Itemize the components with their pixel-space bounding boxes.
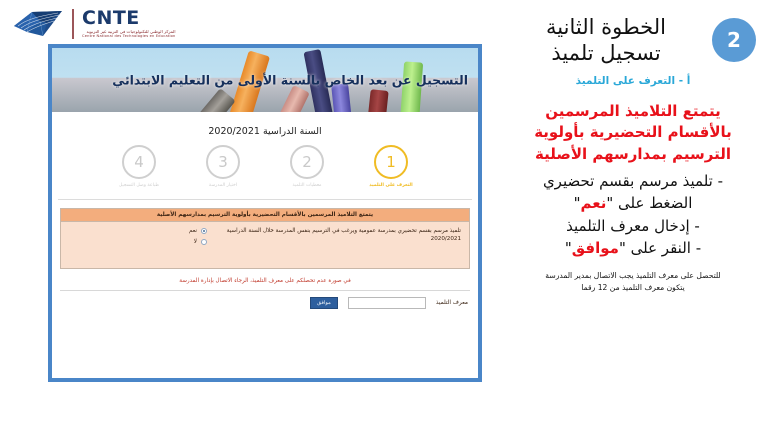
annotation-title-line2: تسجيل تلميذ: [510, 40, 702, 66]
instruction-3: - إدخال معرف التلميذ: [510, 215, 756, 238]
step-3-number: 3: [206, 145, 240, 179]
instruction-4-post: ": [565, 239, 572, 257]
instruction-2: الضغط على "نعم": [510, 192, 756, 215]
annotation-title-line1: الخطوة الثانية: [510, 14, 702, 40]
annotation-footnote: للتحصل على معرف التلميذ يجب الاتصال بمدي…: [510, 270, 756, 294]
registration-app-window: التسجيل عن بعد الخاص بالسنة الأولى من ال…: [48, 44, 482, 382]
banner-title: التسجيل عن بعد الخاص بالسنة الأولى من ال…: [112, 73, 468, 88]
logo-divider: [72, 9, 74, 39]
step-indicator: 1 التعرف على التلميذ 2 معطيات التلميذ 3 …: [52, 145, 478, 189]
instruction-3-pre: - إدخال معرف التلميذ: [566, 217, 700, 235]
radio-yes-dot[interactable]: [201, 228, 207, 234]
step-1[interactable]: 1 التعرف على التلميذ: [360, 145, 422, 189]
logo-wordmark: CNTE المركز الوطني للتكنولوجيات في الترب…: [82, 9, 176, 39]
step-2-label: معطيات التلميذ: [292, 183, 321, 189]
id-warning-text: في صورة عدم تحصلكم على معرف التلميذ، الر…: [62, 278, 468, 284]
annotation-title-group: الخطوة الثانية تسجيل تلميذ: [510, 14, 702, 67]
school-year-label: السنة الدراسية 2020/2021: [52, 126, 478, 137]
question-row: تلميذ مرسم بقسم تحضيري بمدرسة عمومية وير…: [69, 227, 461, 245]
submit-button[interactable]: موافق: [310, 297, 338, 309]
annotation-red-notice: يتمتع التلاميذ المرسمين بالأقسام التحضير…: [510, 101, 756, 166]
step-1-number: 1: [374, 145, 408, 179]
logo-subtitle-fr: Centre National des Technologies en Educ…: [82, 35, 176, 39]
instruction-1-pre: - تلميذ مرسم بقسم تحضيري: [543, 172, 723, 190]
crayon-violet: [331, 83, 354, 112]
instruction-4: - النقر على "موافق": [510, 237, 756, 260]
warning-divider: [60, 290, 470, 291]
step-3-label: اختيار المدرسة: [209, 183, 237, 189]
annotation-instructions: - تلميذ مرسم بقسم تحضيري الضغط على "نعم"…: [510, 170, 756, 260]
logo-name: CNTE: [82, 9, 176, 28]
annotation-pane: 2 الخطوة الثانية تسجيل تلميذ أ - التعرف …: [500, 0, 768, 432]
step-badge: 2: [712, 18, 756, 62]
question-text: تلميذ مرسم بقسم تحضيري بمدرسة عمومية وير…: [213, 227, 461, 244]
student-id-input[interactable]: [348, 297, 426, 309]
crayon-pink: [268, 85, 310, 112]
step-3[interactable]: 3 اختيار المدرسة: [192, 145, 254, 189]
student-id-label: معرف التلميذ: [436, 300, 468, 306]
crayon-maroon: [365, 89, 388, 112]
step-2[interactable]: 2 معطيات التلميذ: [276, 145, 338, 189]
footnote-line-2: يتكون معرف التلميذ من 12 رقما: [510, 282, 756, 294]
cnte-logo-lockup: CNTE المركز الوطني للتكنولوجيات في الترب…: [12, 6, 176, 42]
step-4-number: 4: [122, 145, 156, 179]
red-notice-line-2: بالأقسام التحضيرية بأولوية: [510, 122, 756, 144]
red-notice-line-3: الترسيم بمدارسهم الأصلية: [510, 144, 756, 166]
instruction-2-pre: الضغط على ": [606, 194, 692, 212]
step-1-label: التعرف على التلميذ: [369, 183, 412, 189]
instruction-4-highlight: موافق: [572, 239, 619, 257]
instruction-1: - تلميذ مرسم بقسم تحضيري: [510, 170, 756, 193]
annotation-subtitle: أ - التعرف على التلميذ: [510, 75, 756, 87]
crayon-gray: [184, 88, 235, 112]
annotation-header: 2 الخطوة الثانية تسجيل تلميذ: [510, 14, 756, 67]
radio-yes[interactable]: نعم: [189, 228, 207, 234]
radio-no[interactable]: لا: [189, 239, 207, 245]
radio-group[interactable]: نعم لا: [189, 227, 207, 245]
radio-no-label: لا: [194, 239, 197, 245]
red-notice-line-1: يتمتع التلاميذ المرسمين: [510, 101, 756, 123]
student-id-row: معرف التلميذ موافق: [62, 297, 468, 309]
step-4[interactable]: 4 طباعة وصل التسجيل: [108, 145, 170, 189]
steps-divider: [58, 199, 472, 200]
section-header-notice: يتمتع التلاميذ المرسمين بالأقسام التحضير…: [61, 209, 469, 222]
instruction-2-highlight: نعم: [580, 194, 606, 212]
step-2-number: 2: [290, 145, 324, 179]
radio-no-dot[interactable]: [201, 239, 207, 245]
step-4-label: طباعة وصل التسجيل: [119, 183, 159, 189]
footnote-line-1: للتحصل على معرف التلميذ يجب الاتصال بمدي…: [510, 270, 756, 282]
slide-root: CNTE المركز الوطني للتكنولوجيات في الترب…: [0, 0, 768, 432]
section-body: تلميذ مرسم بقسم تحضيري بمدرسة عمومية وير…: [61, 222, 469, 268]
preparatory-class-section: يتمتع التلاميذ المرسمين بالأقسام التحضير…: [60, 208, 470, 269]
instruction-4-pre: - النقر على ": [619, 239, 701, 257]
screenshot-pane: CNTE المركز الوطني للتكنولوجيات في الترب…: [0, 0, 500, 432]
app-banner: التسجيل عن بعد الخاص بالسنة الأولى من ال…: [52, 48, 478, 112]
cnte-diamond-logo-icon: [12, 6, 64, 42]
radio-yes-label: نعم: [189, 228, 197, 234]
